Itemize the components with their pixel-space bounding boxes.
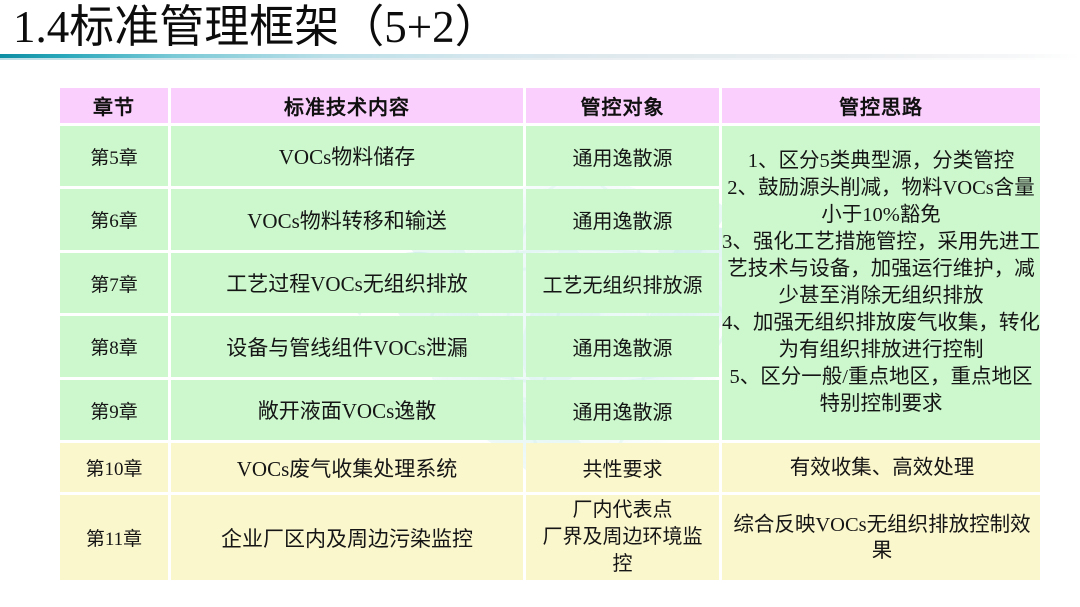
cell-content: 设备与管线组件VOCs泄漏 — [171, 316, 523, 377]
column-header-object: 管控对象 — [526, 88, 719, 123]
cell-chapter: 第9章 — [60, 380, 168, 440]
cell-chapter: 第8章 — [60, 316, 168, 377]
cell-object: 厂内代表点 厂界及周边环境监 控 — [526, 495, 719, 580]
cell-chapter: 第7章 — [60, 253, 168, 313]
cell-content: 工艺过程VOCs无组织排放 — [171, 253, 523, 313]
cell-chapter: 第10章 — [60, 443, 168, 492]
cell-content: VOCs物料转移和输送 — [171, 189, 523, 250]
table-row: 第10章 VOCs废气收集处理系统 共性要求 有效收集、高效处理 — [60, 443, 1040, 492]
title-divider-rule-secondary — [0, 58, 1080, 60]
table-row: 第11章 企业厂区内及周边污染监控 厂内代表点 厂界及周边环境监 控 综合反映V… — [60, 495, 1040, 580]
cell-content: VOCs废气收集处理系统 — [171, 443, 523, 492]
page-title: 1.4标准管理框架（5+2） — [13, 0, 500, 56]
cell-idea: 有效收集、高效处理 — [722, 443, 1040, 492]
cell-object: 通用逸散源 — [526, 189, 719, 250]
cell-idea: 综合反映VOCs无组织排放控制效果 — [722, 495, 1040, 580]
cell-content: 企业厂区内及周边污染监控 — [171, 495, 523, 580]
cell-object: 通用逸散源 — [526, 380, 719, 440]
column-header-chapter: 章节 — [60, 88, 168, 123]
cell-idea-merged: 1、区分5类典型源，分类管控 2、鼓励源头削减，物料VOCs含量小于10%豁免 … — [722, 126, 1040, 440]
standard-framework-table: 章节 标准技术内容 管控对象 管控思路 第5章 VOCs物料储存 通用逸散源 1… — [60, 88, 1037, 582]
table-row: 第5章 VOCs物料储存 通用逸散源 1、区分5类典型源，分类管控 2、鼓励源头… — [60, 126, 1040, 186]
column-header-content: 标准技术内容 — [171, 88, 523, 123]
cell-chapter: 第6章 — [60, 189, 168, 250]
cell-object: 通用逸散源 — [526, 126, 719, 186]
cell-chapter: 第5章 — [60, 126, 168, 186]
column-header-idea: 管控思路 — [722, 88, 1040, 123]
cell-object: 共性要求 — [526, 443, 719, 492]
cell-content: VOCs物料储存 — [171, 126, 523, 186]
cell-object: 工艺无组织排放源 — [526, 253, 719, 313]
cell-chapter: 第11章 — [60, 495, 168, 580]
table-header-row: 章节 标准技术内容 管控对象 管控思路 — [60, 88, 1040, 123]
cell-object: 通用逸散源 — [526, 316, 719, 377]
cell-content: 敞开液面VOCs逸散 — [171, 380, 523, 440]
